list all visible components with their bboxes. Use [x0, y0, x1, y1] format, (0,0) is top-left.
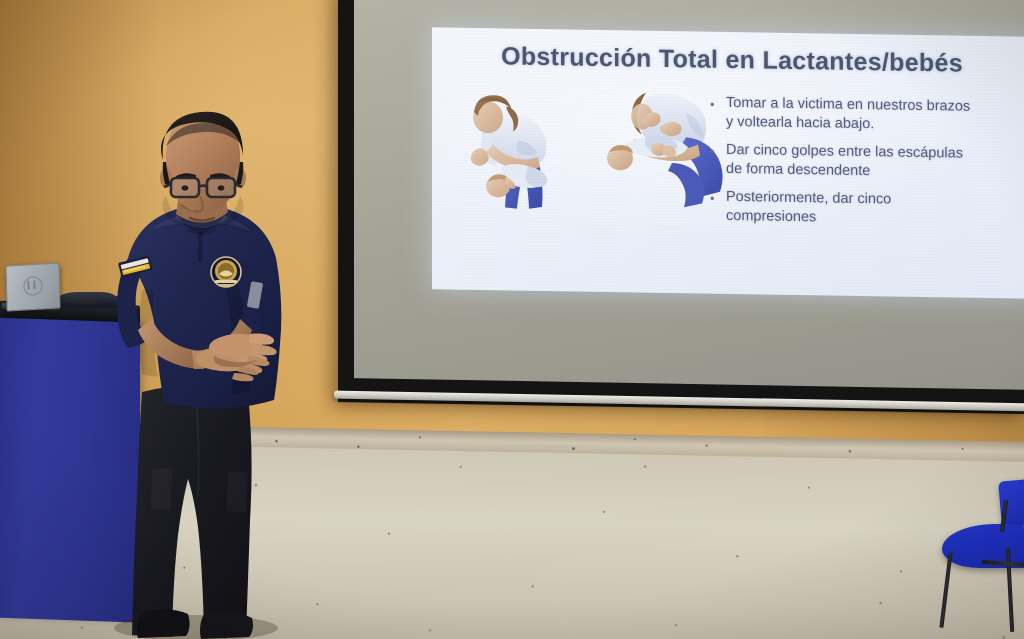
infant-back-blows-illustration: [462, 90, 590, 210]
floor: [0, 442, 1024, 639]
bullet-marker-icon: •: [710, 141, 726, 179]
hp-logo-icon: [23, 276, 42, 296]
bullet-marker-icon: •: [710, 94, 726, 132]
slide-title: Obstrucción Total en Lactantes/bebés: [432, 41, 1024, 79]
list-item: • Tomar a la victima en nuestros brazos …: [710, 94, 972, 136]
desk-items: [96, 296, 126, 308]
laptop[interactable]: [5, 262, 60, 311]
list-item: • Dar cinco golpes entre las escápulas d…: [710, 141, 972, 183]
bullet-marker-icon: •: [710, 188, 726, 226]
projected-slide: Obstrucción Total en Lactantes/bebés: [432, 27, 1024, 298]
list-item: • Posteriormente, dar cinco compresiones: [710, 188, 972, 230]
bullet-text: Dar cinco golpes entre las escápulas de …: [726, 141, 972, 183]
classroom-presentation-scene: Obstrucción Total en Lactantes/bebés: [0, 0, 1024, 639]
table-drape: [0, 317, 140, 622]
bullet-text: Tomar a la victima en nuestros brazos y …: [726, 94, 972, 136]
slide-bullet-list: • Tomar a la victima en nuestros brazos …: [710, 94, 972, 239]
bullet-text: Posteriormente, dar cinco compresiones: [726, 188, 972, 230]
